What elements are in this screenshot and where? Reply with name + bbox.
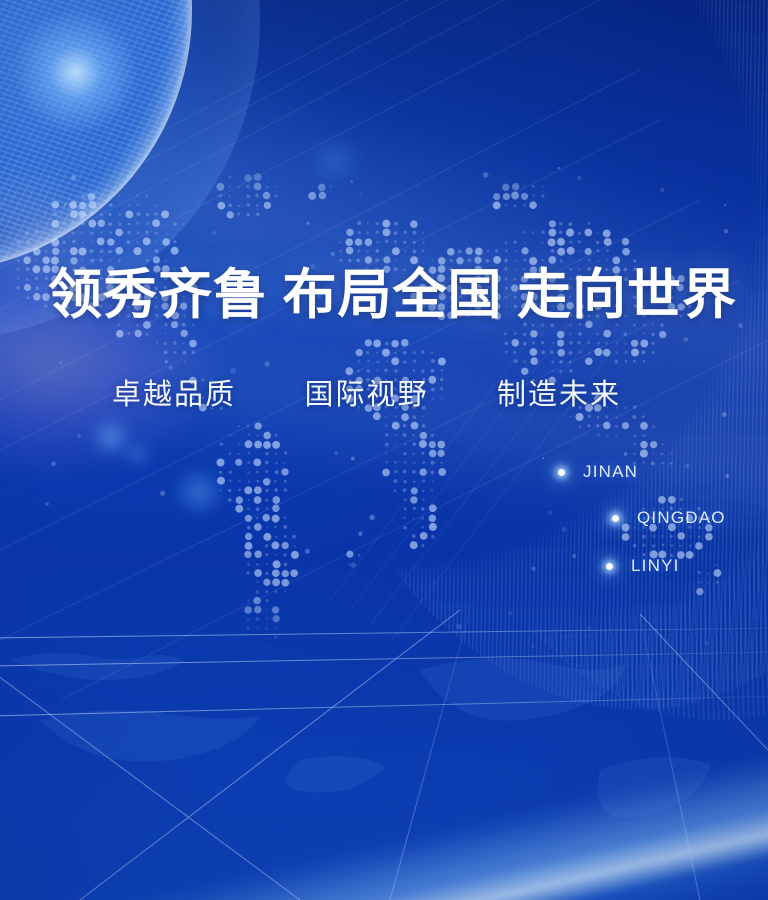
city-marker-jinan[interactable]: JINAN: [558, 462, 638, 482]
city-label: QINGDAO: [637, 508, 726, 528]
location-dot-icon: [612, 515, 619, 522]
city-marker-qingdao[interactable]: QINGDAO: [612, 508, 726, 528]
city-label: LINYI: [631, 556, 680, 576]
subtitle-part-quality: 卓越品质: [112, 379, 236, 411]
location-dot-icon: [558, 469, 565, 476]
page-title: 领秀齐鲁 布局全国 走向世界: [48, 266, 737, 324]
banner-stage: 领秀齐鲁 布局全国 走向世界 卓越品质 国际视野 制造未来 JINAN QING…: [0, 0, 768, 900]
city-marker-linyi[interactable]: LINYI: [606, 556, 680, 576]
city-label: JINAN: [583, 462, 638, 482]
background-vignette: [0, 0, 768, 900]
subtitle-part-future: 制造未来: [497, 379, 621, 411]
subtitle-part-vision: 国际视野: [305, 379, 429, 411]
page-subtitle: 卓越品质 国际视野 制造未来: [112, 371, 621, 413]
location-dot-icon: [606, 563, 613, 570]
